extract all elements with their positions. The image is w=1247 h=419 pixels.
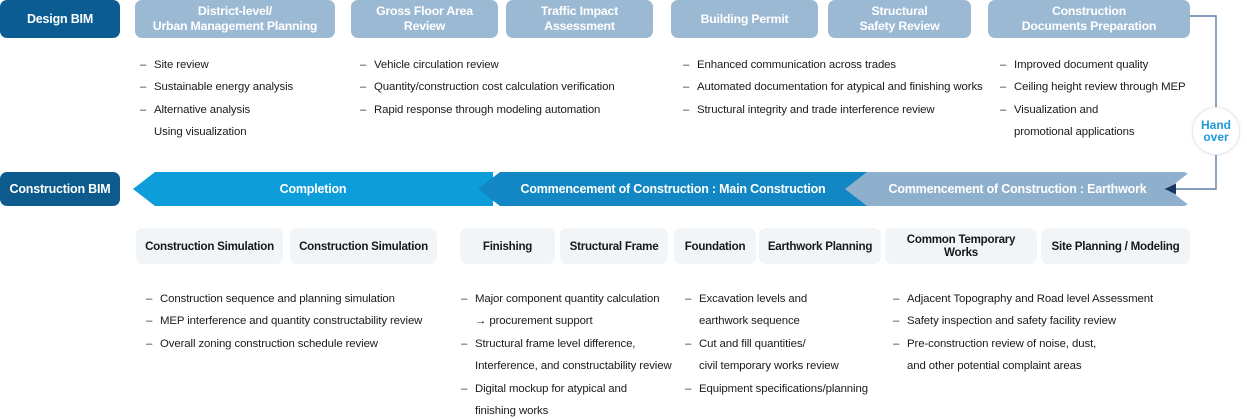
bim-workflow-diagram: Design BIM District-level/ Urban Managem… — [0, 0, 1247, 419]
handover-line-2: over — [1203, 131, 1228, 143]
handover-badge: Hand over — [1192, 107, 1240, 155]
handover-connector — [0, 0, 1247, 419]
